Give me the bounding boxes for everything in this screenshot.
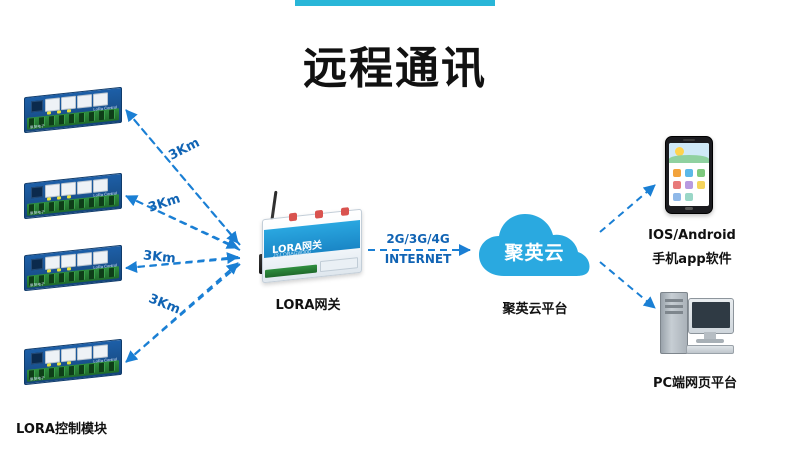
board-logo: 聚英电子 (30, 124, 45, 131)
computer-tower-icon (660, 292, 688, 354)
diagram-canvas: 远程通讯 (0, 0, 790, 472)
pc-caption: PC端网页平台 (620, 372, 770, 391)
board-logo: 聚英电子 (30, 282, 45, 289)
lora-modules-caption: LORA控制模块 (16, 418, 107, 437)
board-logo: 聚英电子 (30, 210, 45, 217)
phone-caption-line1: IOS/Android (622, 228, 762, 243)
phone-screen (669, 143, 709, 206)
cloud-caption: 聚英云平台 (475, 298, 595, 317)
cloud-platform[interactable]: 聚英云 (477, 210, 592, 282)
lora-module[interactable]: 聚英电子 LoRa Control (24, 250, 120, 288)
gateway-caption: LORA网关 (258, 294, 358, 313)
lora-module[interactable]: 聚英电子 LoRa Control (24, 92, 120, 130)
keyboard-icon (686, 345, 734, 354)
phone-client[interactable] (665, 136, 711, 212)
network-type-label: 2G/3G/4G (378, 232, 458, 246)
lora-module[interactable]: 聚英电子 LoRa Control (24, 344, 120, 382)
cloud-name: 聚英云 (477, 238, 592, 265)
pc-client[interactable] (660, 292, 732, 360)
board-logo: 聚英电子 (30, 376, 45, 383)
lora-module[interactable]: 聚英电子 LoRa Control (24, 178, 120, 216)
phone-caption-line2: 手机app软件 (622, 248, 762, 267)
lora-gateway[interactable]: LORA网关 JY-LORAGW300 (250, 196, 360, 286)
internet-label: INTERNET (378, 252, 458, 266)
monitor-icon (688, 298, 734, 334)
